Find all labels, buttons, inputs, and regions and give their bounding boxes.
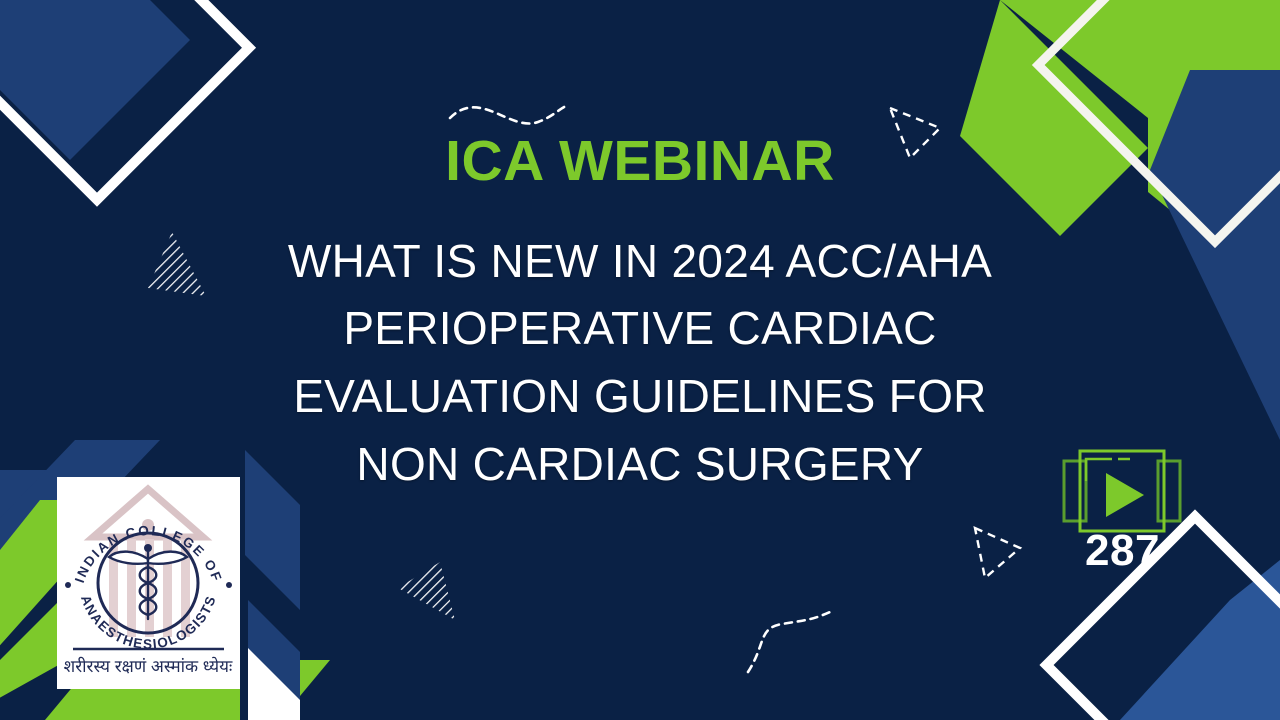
ica-logo-card: INDIAN COLLEGE OF ANAESTHESIOLOGISTS शरी…: [57, 477, 240, 689]
caduceus-icon: [109, 544, 187, 619]
logo-dot-left-icon: [65, 582, 71, 588]
logo-dot-right-icon: [226, 582, 232, 588]
play-frame-right: [1158, 461, 1180, 521]
view-count: 287: [1085, 526, 1160, 576]
video-play-icon[interactable]: [1062, 447, 1182, 535]
webinar-title-slide: ICA WEBINAR WHAT IS NEW IN 2024 ACC/AHA …: [0, 0, 1280, 720]
play-frame-left: [1064, 461, 1086, 521]
play-triangle-icon[interactable]: [1106, 473, 1144, 517]
play-badge[interactable]: [1062, 447, 1182, 535]
logo-motto: शरीरस्य रक्षणं अस्मांक ध्येयः: [64, 656, 233, 676]
ica-logo: INDIAN COLLEGE OF ANAESTHESIOLOGISTS शरी…: [57, 477, 240, 689]
